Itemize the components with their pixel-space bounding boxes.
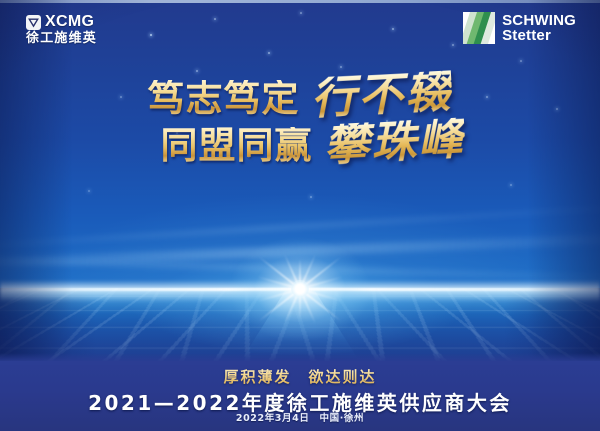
headline-block: 笃志笃定 行不辍 同盟同赢 攀珠峰 [0, 74, 600, 164]
schwing-line1: SCHWING [502, 13, 576, 28]
schwing-stetter-logo[interactable]: SCHWING Stetter [463, 12, 576, 44]
headline-line2-bold: 同盟同赢 [160, 127, 312, 164]
xcmg-logo[interactable]: XCMG 徐工施维英 [26, 14, 97, 46]
xcmg-chinese-name: 徐工施维英 [26, 32, 97, 46]
poster-banner: XCMG 徐工施维英 SCHWING Stetter 笃志笃定 行不辍 同盟同赢… [0, 0, 600, 431]
schwing-line2: Stetter [502, 28, 576, 43]
starburst-core [291, 280, 309, 298]
conference-date-location: 2022年3月4日 中国·徐州 [0, 410, 600, 424]
headline-line2-script: 攀珠峰 [323, 117, 466, 167]
xcmg-wordmark: XCMG [45, 14, 94, 30]
headline-line-2: 同盟同赢 攀珠峰 [134, 121, 465, 164]
footer-slogan: 厚积薄发 欲达则达 [0, 366, 600, 387]
top-edge-highlight [0, 0, 600, 3]
schwing-stripes-mark-icon [463, 12, 495, 44]
headline-line1-bold: 笃志笃定 [147, 80, 299, 117]
xcmg-triangle-mark-icon [26, 15, 41, 30]
headline-line-1: 笃志笃定 行不辍 [147, 74, 452, 117]
